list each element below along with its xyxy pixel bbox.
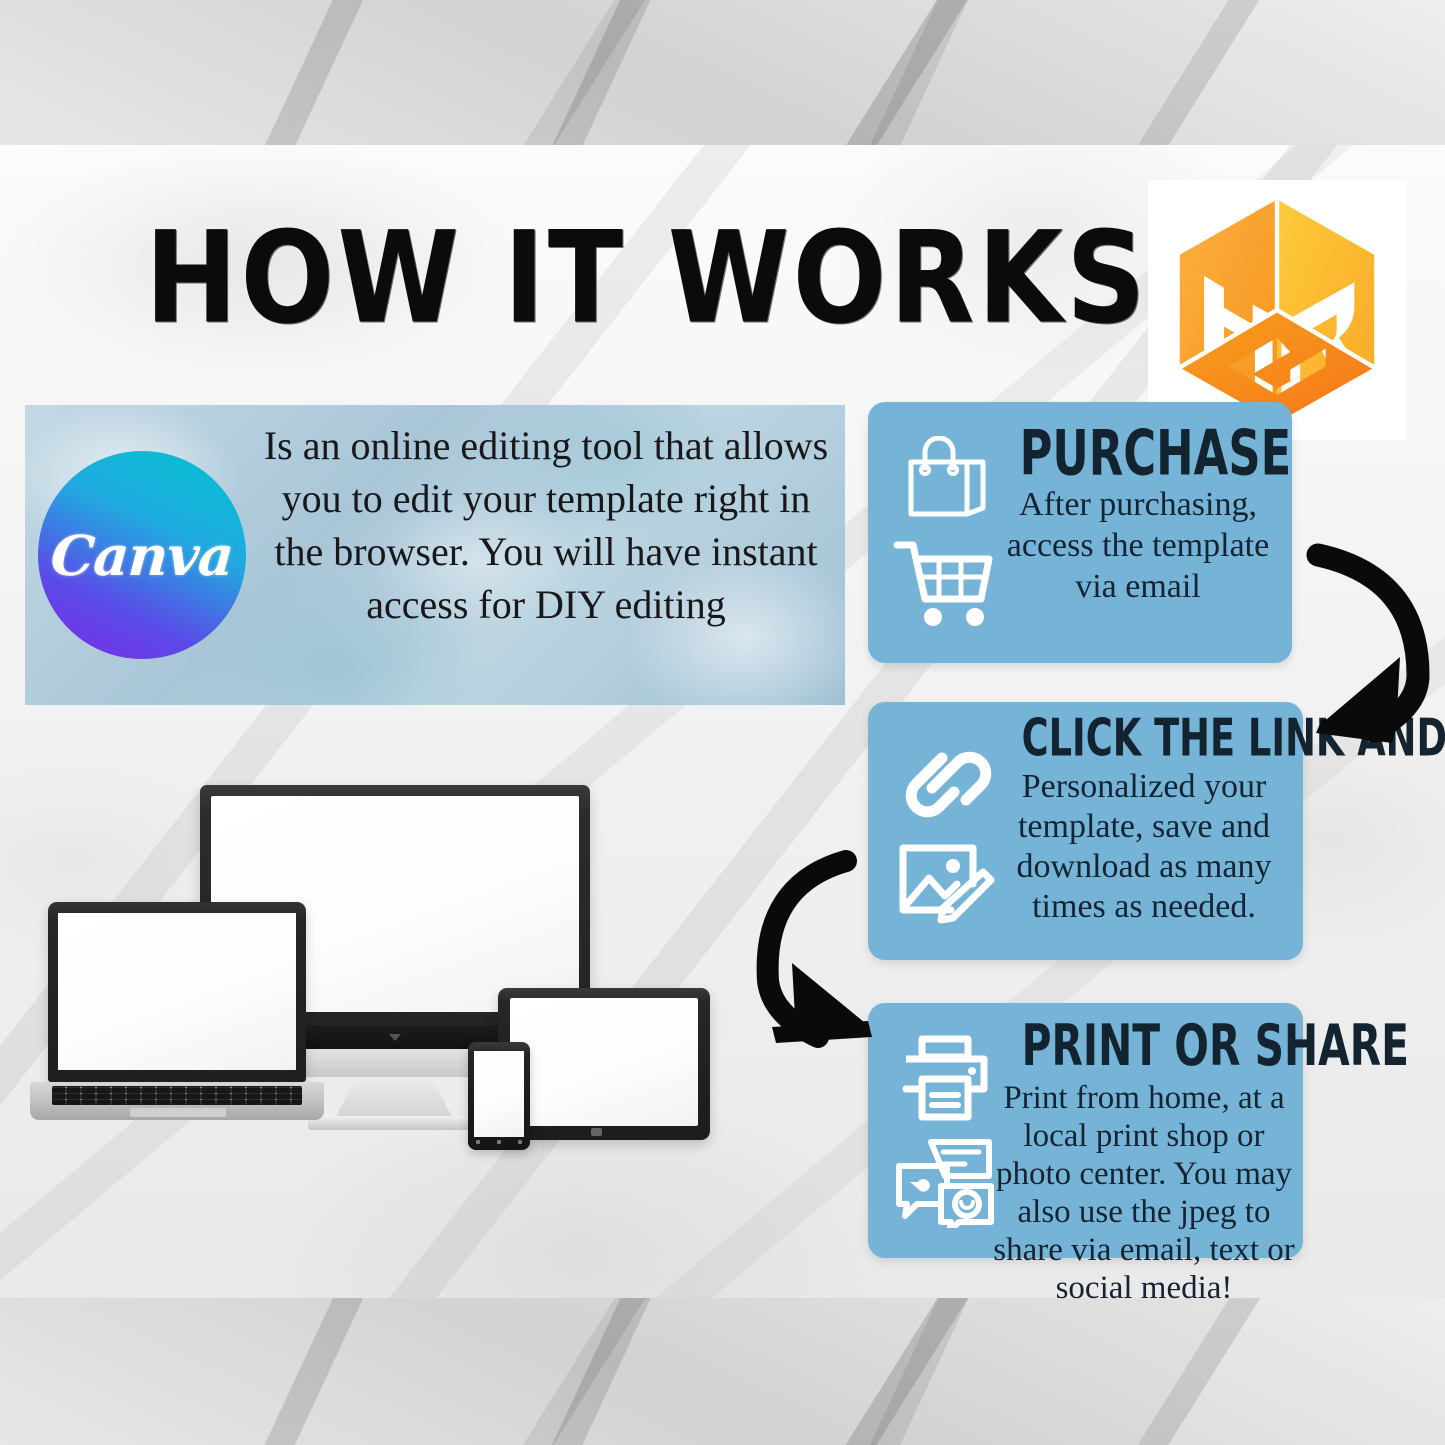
- paper-texture-band-bottom: [0, 1298, 1445, 1445]
- chat-bubbles-icon: [893, 1136, 997, 1228]
- print-text: PRINT OR SHARE Print from home, at a loc…: [991, 1017, 1297, 1307]
- purchase-text: PURCHASE After purchasing, access the te…: [990, 422, 1286, 607]
- step-card-purchase: PURCHASE After purchasing, access the te…: [868, 402, 1292, 663]
- step-card-edit: CLICK THE LINK AND EDIT YOURSELF Persona…: [868, 702, 1303, 960]
- infographic-page: HOW IT WORKS: [0, 0, 1445, 1445]
- print-title: PRINT OR SHARE: [1022, 1017, 1267, 1077]
- canva-description: Is an online editing tool that allows yo…: [259, 419, 833, 631]
- phone-screen: [474, 1051, 524, 1137]
- edit-title: CLICK THE LINK AND EDIT YOURSELF: [1022, 712, 1267, 765]
- curved-arrow-down-left-icon: [1300, 535, 1445, 760]
- image-edit-icon: [895, 838, 995, 924]
- shopping-cart-icon: [893, 537, 997, 629]
- edit-text: CLICK THE LINK AND EDIT YOURSELF Persona…: [991, 712, 1297, 927]
- page-title: HOW IT WORKS: [145, 214, 951, 341]
- laptop-keyboard: [52, 1086, 302, 1105]
- canva-info-panel: Canva Is an online editing tool that all…: [25, 405, 845, 705]
- laptop-trackpad: [130, 1108, 226, 1117]
- printer-icon: [896, 1033, 994, 1123]
- edit-icons: [886, 718, 1004, 944]
- shopping-bag-icon: [897, 436, 993, 520]
- print-icons: [886, 1019, 1004, 1242]
- tablet-home-button: [591, 1128, 602, 1136]
- device-mockups: [30, 760, 790, 1180]
- canva-wordmark: Canva: [49, 523, 236, 588]
- monitor-neck: [335, 1077, 453, 1119]
- laptop-device: [48, 902, 306, 1082]
- laptop-screen: [58, 913, 296, 1070]
- purchase-icons: [886, 418, 1004, 647]
- purchase-title: PURCHASE: [1020, 422, 1257, 487]
- paper-texture-band-top: [0, 0, 1445, 145]
- step-card-print: PRINT OR SHARE Print from home, at a loc…: [868, 1003, 1303, 1258]
- monitor-foot: [308, 1116, 480, 1130]
- phone-buttons: [468, 1137, 530, 1146]
- link-icon: [898, 738, 992, 818]
- purchase-description: After purchasing, access the template vi…: [990, 484, 1286, 607]
- curved-arrow-down-right-icon: [752, 845, 892, 1060]
- hrg-cube-icon: [1165, 194, 1389, 426]
- smartphone-device: [468, 1042, 530, 1150]
- canva-logo-icon: Canva: [38, 451, 246, 659]
- print-description: Print from home, at a local print shop o…: [991, 1079, 1297, 1307]
- edit-description: Personalized your template, save and dow…: [991, 767, 1297, 927]
- tablet-screen: [510, 998, 698, 1126]
- hrg-logo: [1148, 180, 1406, 440]
